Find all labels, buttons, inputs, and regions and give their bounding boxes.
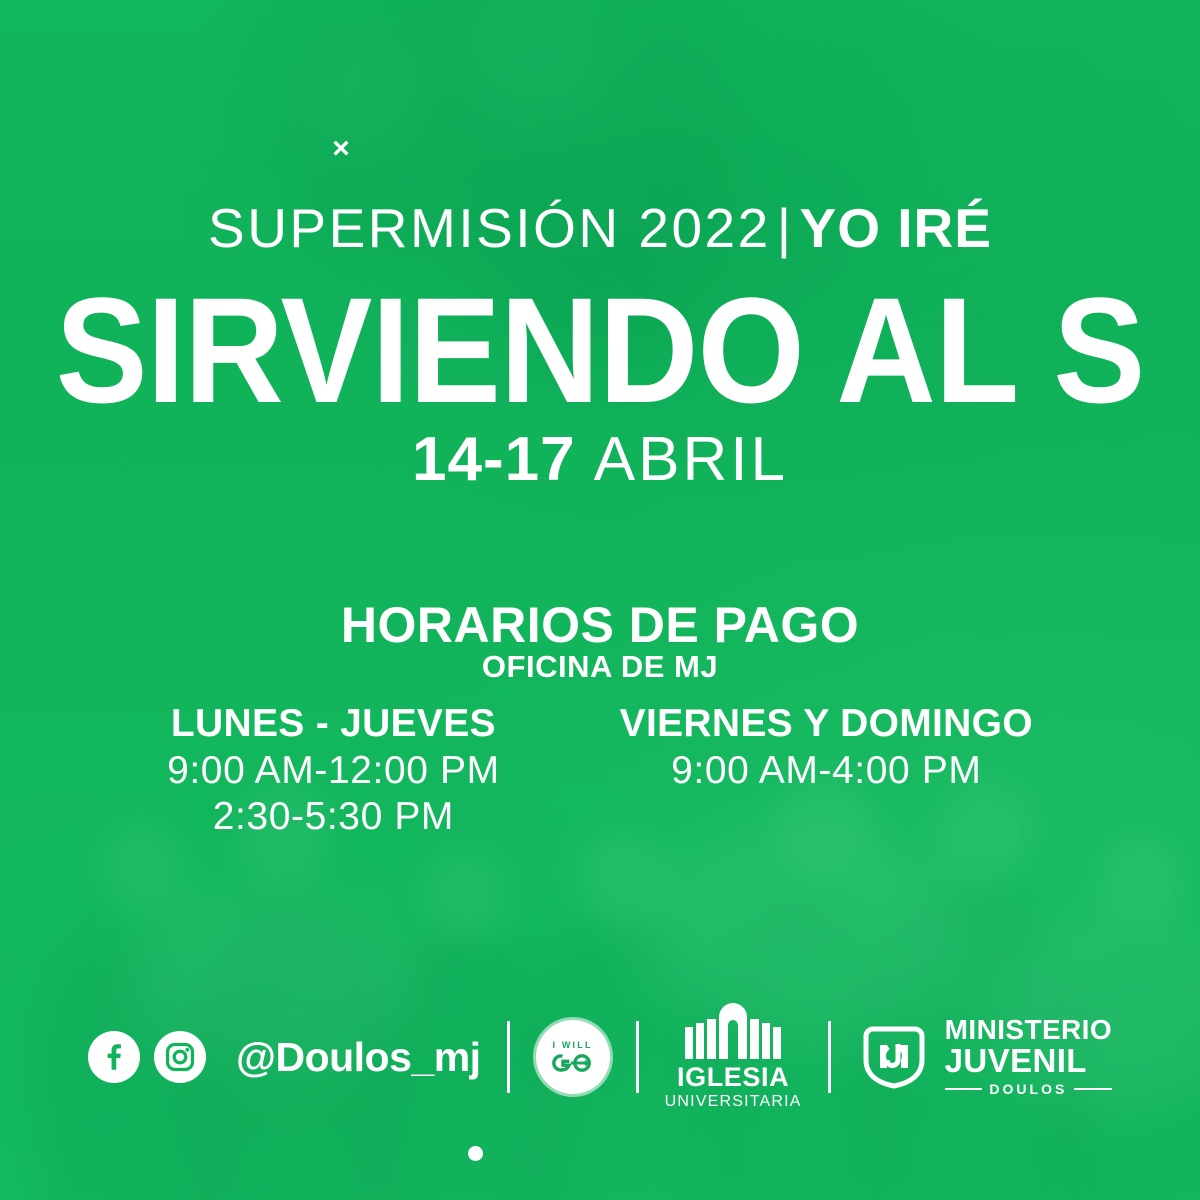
iwillgo-go-mark [549, 1051, 597, 1075]
ministerio-line-1: MINISTERIO [945, 1016, 1112, 1044]
schedule-day-label: VIERNES Y DOMINGO [620, 700, 1033, 748]
carousel-indicator-dot[interactable] [468, 1146, 483, 1161]
schedule-columns: LUNES - JUEVES 9:00 AM-12:00 PM 2:30-5:3… [0, 700, 1200, 840]
social-group: @Doulos_mj [88, 1031, 481, 1083]
footer-divider [507, 1021, 510, 1093]
schedule-time: 9:00 AM-4:00 PM [620, 748, 1033, 794]
schedule-column-weekend: VIERNES Y DOMINGO 9:00 AM-4:00 PM [620, 700, 1033, 794]
ministerio-juvenil-logo: MINISTERIO JUVENIL DOULOS [857, 1016, 1112, 1098]
iglesia-subtitle: UNIVERSITARIA [665, 1092, 802, 1111]
instagram-icon[interactable] [154, 1031, 206, 1083]
eyebrow-separator: | [771, 197, 800, 259]
church-building-icon [681, 1003, 785, 1059]
facebook-icon[interactable] [88, 1031, 140, 1083]
mj-shield-icon [857, 1020, 931, 1094]
social-handle[interactable]: @Doulos_mj [236, 1033, 481, 1081]
payment-schedule-title: HORARIOS DE PAGO [0, 596, 1200, 654]
iglesia-universitaria-logo: IGLESIA UNIVERSITARIA [665, 1003, 802, 1111]
iglesia-name: IGLESIA [677, 1063, 789, 1092]
i-will-go-logo: I WILL [536, 1020, 610, 1094]
eyebrow-title: SUPERMISIÓN 2022 [208, 197, 771, 259]
schedule-time: 2:30-5:30 PM [167, 794, 500, 840]
schedule-day-label: LUNES - JUEVES [167, 700, 500, 748]
schedule-column-weekday: LUNES - JUEVES 9:00 AM-12:00 PM 2:30-5:3… [167, 700, 500, 840]
event-dates: 14-17 ABRIL [0, 424, 1200, 496]
iwillgo-top-text: I WILL [552, 1040, 592, 1050]
headline-text: SIRVIENDO AL S [56, 275, 1145, 425]
close-icon[interactable]: × [328, 136, 354, 162]
page-title: SIRVIENDO AL S [8, 275, 1192, 425]
schedule-time: 9:00 AM-12:00 PM [167, 748, 500, 794]
payment-schedule-subtitle: OFICINA DE MJ [0, 648, 1200, 686]
footer-divider [636, 1021, 639, 1093]
date-month: ABRIL [594, 425, 788, 494]
footer-bar: @Doulos_mj I WILL [0, 1002, 1200, 1112]
event-eyebrow: SUPERMISIÓN 2022|YO IRÉ [0, 196, 1200, 260]
ministerio-line-3: DOULOS [945, 1080, 1112, 1098]
eyebrow-slogan: YO IRÉ [800, 197, 992, 259]
ministerio-line-2: JUVENIL [945, 1044, 1087, 1077]
promo-poster: × SUPERMISIÓN 2022|YO IRÉ SIRVIENDO AL S… [0, 0, 1200, 1200]
footer-divider [828, 1021, 831, 1093]
date-range: 14-17 [412, 425, 576, 494]
